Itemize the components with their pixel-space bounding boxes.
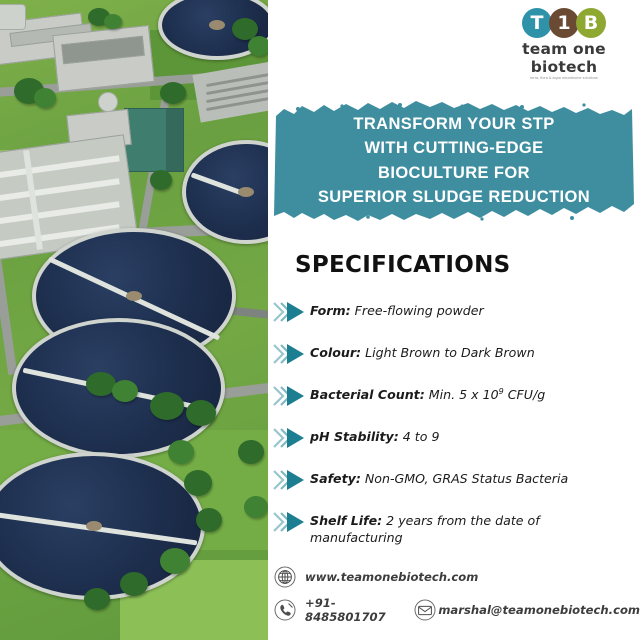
tree	[186, 400, 216, 426]
spec-value: Non-GMO, GRAS Status Bacteria	[365, 471, 568, 486]
clarifier-arm	[48, 257, 135, 301]
logo-company-name: team one biotech	[500, 40, 628, 76]
tree	[184, 470, 212, 496]
tree	[244, 496, 268, 518]
double-chevron-icon	[272, 469, 306, 491]
spec-label: Shelf Life:	[310, 513, 382, 528]
tree	[168, 440, 194, 464]
spec-text: Bacterial Count: Min. 5 x 109 CFU/g	[310, 384, 545, 403]
tree	[160, 82, 186, 104]
tree	[120, 572, 148, 596]
spec-text: Form: Free-flowing powder	[310, 300, 484, 319]
specifications-heading: SPECIFICATIONS	[295, 252, 511, 278]
tree	[196, 508, 222, 532]
email-text[interactable]: marshal@teamonebiotech.com	[438, 603, 640, 617]
tree	[160, 548, 190, 574]
contact-website-row[interactable]: www.teamonebiotech.com	[274, 566, 640, 588]
headline-line-4: SUPERIOR SLUDGE REDUCTION	[318, 187, 590, 208]
double-chevron-icon	[272, 511, 306, 533]
spec-value: Min. 5 x 10	[429, 387, 499, 402]
spec-text: Colour: Light Brown to Dark Brown	[310, 342, 535, 361]
tree	[104, 14, 122, 29]
spec-item-bacterial-count: Bacterial Count: Min. 5 x 109 CFU/g	[272, 384, 640, 407]
contact-phone-email-row[interactable]: +91-8485801707 marshal@teamonebiotech.co…	[274, 596, 640, 624]
spec-value: Free-flowing powder	[355, 303, 484, 318]
poster: T 1 B team one biotech terra, flora & aq…	[0, 0, 640, 640]
spec-label: Safety:	[310, 471, 361, 486]
building-side	[166, 109, 183, 171]
double-chevron-icon	[272, 427, 306, 449]
clarifier-hub	[86, 521, 102, 531]
headline-line-1: TRANSFORM YOUR STP	[353, 114, 554, 135]
envelope-icon	[414, 599, 436, 621]
tree	[34, 88, 56, 108]
specifications-list: Form: Free-flowing powder Colour: Light …	[272, 300, 640, 565]
brand-logo: T 1 B team one biotech terra, flora & aq…	[500, 8, 628, 70]
spec-label: pH Stability:	[310, 429, 399, 444]
headline-text: TRANSFORM YOUR STP WITH CUTTING-EDGE BIO…	[272, 100, 636, 222]
clarifier-hub	[126, 291, 142, 301]
double-chevron-icon	[272, 385, 306, 407]
logo-circle-t: T	[522, 8, 552, 38]
spec-text: pH Stability: 4 to 9	[310, 426, 439, 445]
logo-tagline: terra, flora & aqua microbiome solutions	[500, 76, 628, 80]
spec-item-safety: Safety: Non-GMO, GRAS Status Bacteria	[272, 468, 640, 491]
spec-item-shelf-life: Shelf Life: 2 years from the date of man…	[272, 510, 640, 546]
headline-line-2: WITH CUTTING-EDGE	[364, 138, 543, 159]
tree	[84, 588, 110, 610]
clarifier-arm	[93, 526, 197, 545]
clarifier-hub	[238, 187, 254, 197]
spec-value: Light Brown to Dark Brown	[365, 345, 535, 360]
logo-circles: T 1 B	[500, 8, 628, 38]
logo-circle-b: B	[576, 8, 606, 38]
tree	[248, 36, 268, 56]
headline-banner: TRANSFORM YOUR STP WITH CUTTING-EDGE BIO…	[272, 100, 636, 222]
spec-label: Bacterial Count:	[310, 387, 425, 402]
spec-text: Safety: Non-GMO, GRAS Status Bacteria	[310, 468, 568, 487]
globe-icon	[274, 566, 296, 588]
aerial-plant-photo	[0, 0, 268, 640]
plant-building	[124, 108, 184, 172]
tree	[238, 440, 264, 464]
spec-item-form: Form: Free-flowing powder	[272, 300, 640, 323]
spec-value: 4 to 9	[403, 429, 440, 444]
spec-item-ph-stability: pH Stability: 4 to 9	[272, 426, 640, 449]
phone-text[interactable]: +91-8485801707	[305, 596, 392, 624]
spec-value-tail: CFU/g	[504, 387, 546, 402]
website-text[interactable]: www.teamonebiotech.com	[305, 570, 478, 584]
tree	[150, 170, 172, 190]
silo	[0, 4, 26, 30]
double-chevron-icon	[272, 343, 306, 365]
clarifier-hub	[209, 20, 225, 30]
tree	[112, 380, 138, 402]
spec-item-colour: Colour: Light Brown to Dark Brown	[272, 342, 640, 365]
spec-label: Colour:	[310, 345, 361, 360]
contact-block: www.teamonebiotech.com +91-8485801707 ma…	[274, 566, 640, 632]
round-tank	[98, 92, 118, 112]
spec-text: Shelf Life: 2 years from the date of man…	[310, 510, 560, 546]
tree	[150, 392, 184, 420]
double-chevron-icon	[272, 301, 306, 323]
headline-line-3: BIOCULTURE FOR	[378, 163, 530, 184]
phone-icon	[274, 599, 296, 621]
logo-circle-one: 1	[549, 8, 579, 38]
spec-label: Form:	[310, 303, 351, 318]
clarifier-arm	[0, 512, 94, 531]
